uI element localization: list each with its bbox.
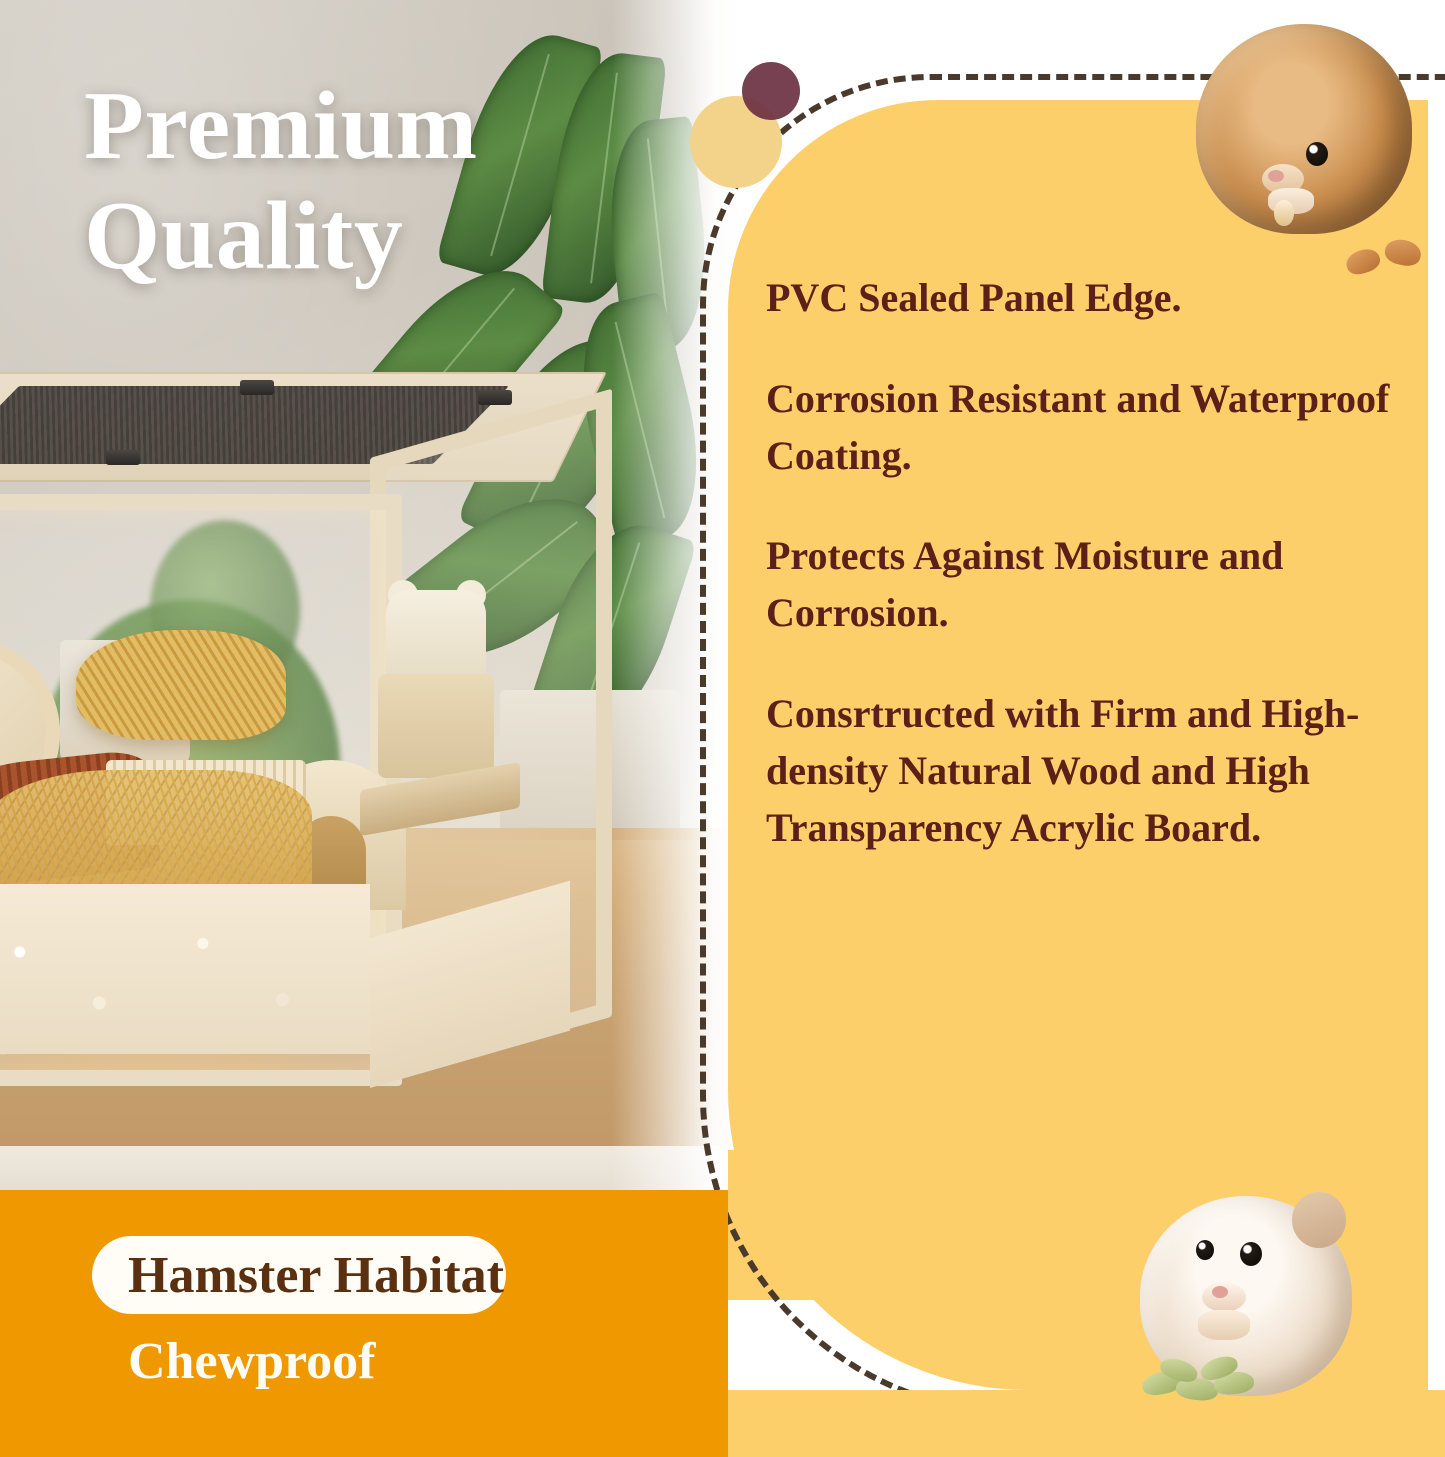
product-name-label: Hamster Habitat	[128, 1244, 688, 1308]
hamster-eye	[1306, 142, 1328, 166]
hamster-habitat-cage	[0, 372, 640, 1172]
bottom-banner	[0, 1190, 728, 1457]
feature-item-1: PVC Sealed Panel Edge.	[766, 270, 1426, 327]
cage-frame	[0, 458, 580, 1098]
hamster-ear	[1292, 1192, 1346, 1248]
hamster-eye-right	[1240, 1242, 1262, 1266]
title-line-1: Premium	[84, 72, 684, 182]
feature-item-4: Consrtructed with Firm and High-density …	[766, 686, 1426, 856]
hamster-nose	[1212, 1286, 1228, 1298]
title-line-2: Quality	[84, 182, 684, 292]
hamster-nose	[1268, 170, 1284, 182]
lid-hinge	[240, 380, 274, 395]
feeder-body	[378, 674, 494, 778]
decor-circle-maroon-icon	[742, 62, 800, 120]
acrylic-front-panel	[0, 494, 402, 1086]
page-title: Premium Quality	[84, 72, 684, 292]
feature-item-3: Protects Against Moisture and Corrosion.	[766, 528, 1426, 642]
lid-hinge	[478, 390, 512, 405]
feeder-head	[386, 590, 486, 682]
hamster-paws	[1198, 1310, 1250, 1340]
product-infographic-poster: Premium Quality PVC Sealed Panel Edge. C…	[0, 0, 1445, 1457]
wood-shaving-bedding	[0, 884, 370, 1054]
wooden-water-bottle-stand	[372, 590, 502, 820]
hay-nest	[76, 630, 286, 740]
hamster-photo-top-right	[1196, 24, 1412, 234]
panel-bottom-strip	[728, 1390, 1445, 1457]
feature-list: PVC Sealed Panel Edge. Corrosion Resista…	[766, 270, 1426, 856]
feature-item-2: Corrosion Resistant and Waterproof Coati…	[766, 371, 1426, 485]
hamster-food-piece	[1274, 200, 1294, 226]
tagline-label: Chewproof	[128, 1330, 688, 1394]
hamster-eye-left	[1196, 1240, 1214, 1260]
